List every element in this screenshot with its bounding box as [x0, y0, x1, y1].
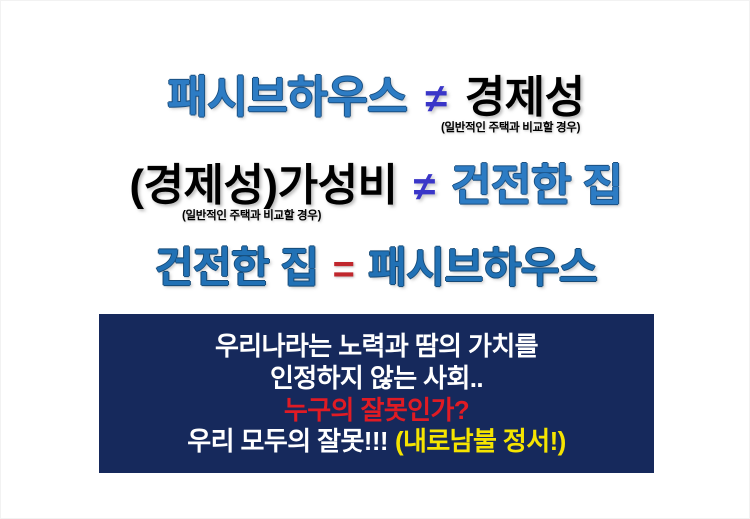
message-line-2: 인정하지 않는 사회..	[270, 363, 483, 395]
message-line-1: 우리나라는 노력과 땀의 가치를	[215, 331, 538, 363]
equation-2: (경제성)가성비≠건전한 집	[129, 149, 622, 213]
equation-3: 건전한 집=패시브하우스	[155, 234, 597, 295]
equation-1-operator: ≠	[425, 77, 446, 122]
equation-row-1: 패시브하우스≠경제성	[1, 61, 750, 125]
equation-2-right: 건전한 집	[451, 149, 623, 213]
equation-3-operator: =	[333, 249, 355, 292]
equation-3-left: 건전한 집	[155, 234, 319, 295]
message-line-4: 우리 모두의 잘못!!!(내로남불 정서!)	[187, 426, 565, 458]
message-box: 우리나라는 노력과 땀의 가치를 인정하지 않는 사회.. 누구의 잘못인가? …	[99, 314, 654, 473]
equation-1-right: 경제성	[465, 61, 585, 125]
equation-row-2: (경제성)가성비≠건전한 집	[1, 149, 750, 213]
equation-2-note: (일반적인 주택과 비교할 경우)	[182, 207, 321, 223]
message-line-3: 누구의 잘못인가?	[284, 395, 469, 427]
message-line-4-yellow: (내로남불 정서!)	[395, 426, 566, 458]
slide-canvas: 패시브하우스≠경제성 (일반적인 주택과 비교할 경우) (경제성)가성비≠건전…	[0, 0, 750, 519]
equation-row-3: 건전한 집=패시브하우스	[1, 234, 750, 295]
equation-2-left: (경제성)가성비	[129, 149, 397, 213]
equation-1-left: 패시브하우스	[167, 61, 407, 125]
equation-1-note: (일반적인 주택과 비교할 경우)	[441, 119, 580, 135]
equation-1: 패시브하우스≠경제성	[167, 61, 584, 125]
equation-3-right: 패시브하우스	[368, 234, 597, 295]
equation-2-operator: ≠	[414, 165, 435, 210]
message-line-4-white: 우리 모두의 잘못!!!	[187, 426, 388, 458]
